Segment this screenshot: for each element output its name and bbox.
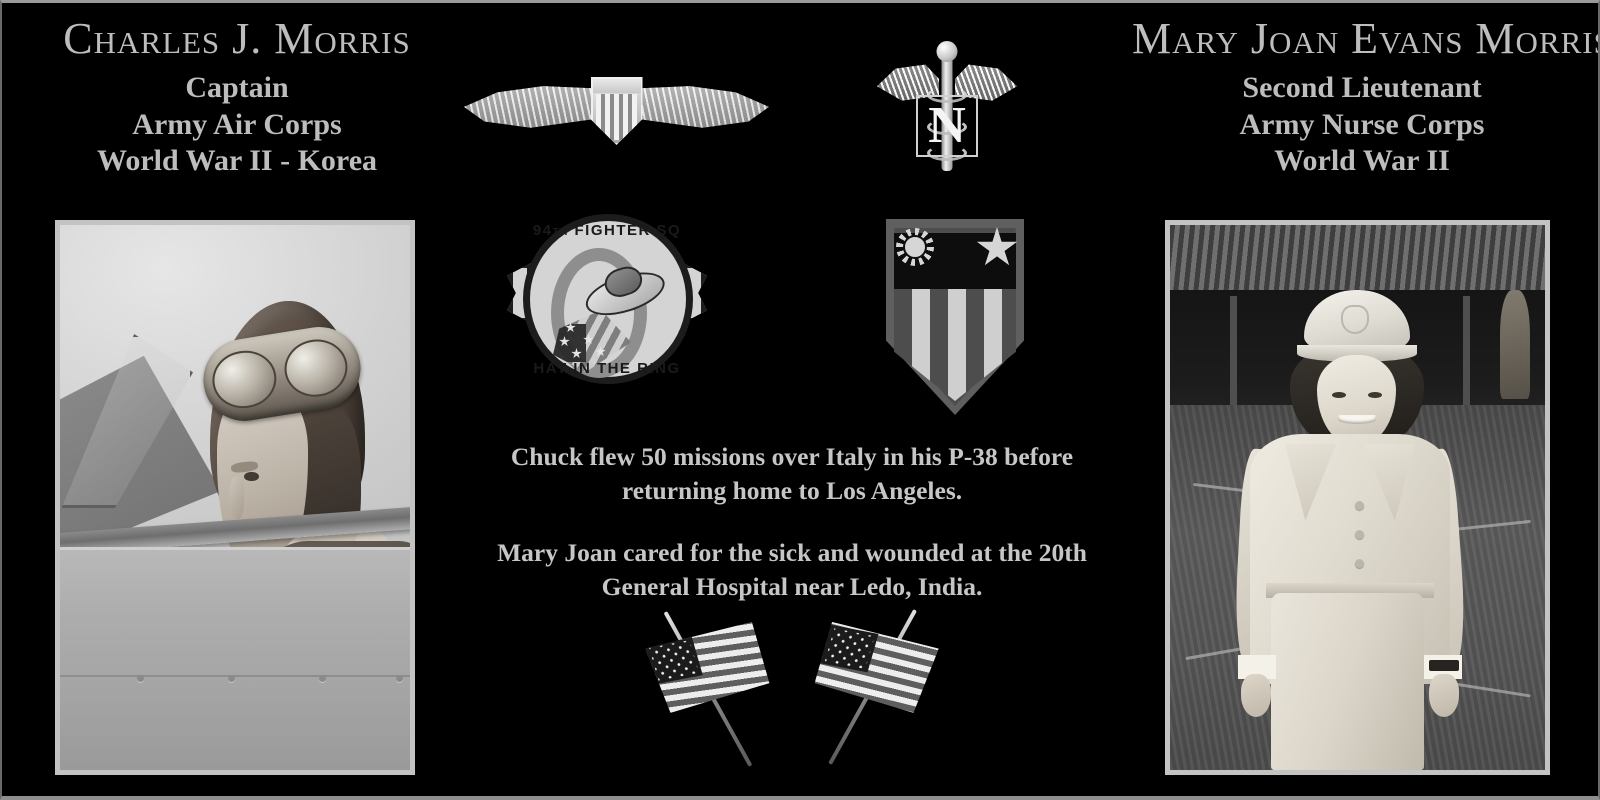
flag-cloth xyxy=(644,622,773,714)
pilot-wings-icon xyxy=(464,65,769,155)
right-honoree-photo xyxy=(1165,220,1550,775)
fuselage xyxy=(60,547,410,770)
patch-unit-number: 94 xyxy=(533,222,553,239)
cbi-theater-shield-icon xyxy=(880,219,1030,415)
left-honoree-conflicts: World War II - Korea xyxy=(7,143,467,180)
right-honoree-heading: Mary Joan Evans Morris Second Lieutenant… xyxy=(1132,17,1592,180)
left-honoree-name: Charles J. Morris xyxy=(7,17,467,61)
left-honoree-branch: Army Air Corps xyxy=(7,107,467,144)
caduceus-knob xyxy=(937,41,958,62)
patch-unit-label: 94TH FIGHTER SQ xyxy=(505,222,709,239)
inscription-paragraph-1: Chuck flew 50 missions over Italy in his… xyxy=(462,440,1122,507)
background-figure xyxy=(1500,290,1530,399)
squadron-patch-icon: 94TH FIGHTER SQ HAT IN THE RING xyxy=(505,210,709,415)
wings-shield-shape xyxy=(591,77,643,145)
right-honoree-rank: Second Lieutenant xyxy=(1132,70,1592,107)
us-flag-right xyxy=(789,611,939,800)
inscription: Chuck flew 50 missions over Italy in his… xyxy=(462,440,1122,604)
right-honoree-service-details: Second Lieutenant Army Nurse Corps World… xyxy=(1132,70,1592,180)
memorial-plaque: Charles J. Morris Captain Army Air Corps… xyxy=(0,0,1600,800)
inscription-paragraph-2: Mary Joan cared for the sick and wounded… xyxy=(462,536,1122,603)
right-honoree-branch: Army Nurse Corps xyxy=(1132,107,1592,144)
nurse-corps-letter: N xyxy=(916,95,978,157)
patch-unit-number-suffix: TH xyxy=(553,227,569,238)
nurse-portrait xyxy=(1234,290,1467,770)
left-honoree-rank: Captain xyxy=(7,70,467,107)
chinese-sun-icon xyxy=(896,228,934,266)
right-honoree-name: Mary Joan Evans Morris xyxy=(1132,17,1592,61)
patch-unit-type: FIGHTER SQ xyxy=(575,222,682,239)
left-honoree-heading: Charles J. Morris Captain Army Air Corps… xyxy=(7,17,467,180)
right-honoree-conflicts: World War II xyxy=(1132,143,1592,180)
wing-left-shape xyxy=(464,83,592,135)
shield-stripes xyxy=(894,289,1016,401)
left-honoree-photo xyxy=(55,220,415,775)
patch-motto: HAT IN THE RING xyxy=(505,360,709,377)
wing-right-shape xyxy=(641,83,769,135)
flag-cloth xyxy=(812,622,941,714)
crossed-us-flags-icon xyxy=(647,611,937,800)
left-honoree-service-details: Captain Army Air Corps World War II - Ko… xyxy=(7,70,467,180)
nurse-caduceus-icon: N xyxy=(857,23,1037,188)
us-flag-left xyxy=(645,611,795,800)
nurse-uniform-skirt xyxy=(1271,593,1424,770)
